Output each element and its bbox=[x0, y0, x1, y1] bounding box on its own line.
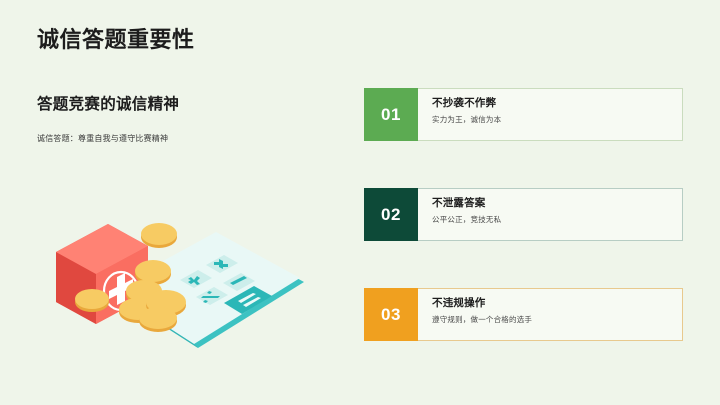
section-caption: 诚信答题：尊重自我与遵守比赛精神 bbox=[37, 133, 168, 144]
card-description: 公平公正，竞技无私 bbox=[432, 215, 682, 225]
card-number-badge: 02 bbox=[364, 188, 418, 241]
card-number-badge: 03 bbox=[364, 288, 418, 341]
card-body: 不泄露答案 公平公正，竞技无私 bbox=[418, 188, 683, 241]
card-title: 不泄露答案 bbox=[432, 197, 682, 210]
card-title: 不违规操作 bbox=[432, 297, 682, 310]
card-title: 不抄袭不作弊 bbox=[432, 97, 682, 110]
principle-card-2[interactable]: 02 不泄露答案 公平公正，竞技无私 bbox=[364, 188, 683, 241]
card-number-badge: 01 bbox=[364, 88, 418, 141]
card-description: 遵守规则，做一个合格的选手 bbox=[432, 315, 682, 325]
card-description: 实力为王，诚信为本 bbox=[432, 115, 682, 125]
principle-card-3[interactable]: 03 不违规操作 遵守规则，做一个合格的选手 bbox=[364, 288, 683, 341]
slide-canvas: 诚信答题重要性 答题竞赛的诚信精神 诚信答题：尊重自我与遵守比赛精神 bbox=[0, 0, 720, 405]
illustration bbox=[52, 208, 304, 360]
principle-card-1[interactable]: 01 不抄袭不作弊 实力为王，诚信为本 bbox=[364, 88, 683, 141]
card-body: 不违规操作 遵守规则，做一个合格的选手 bbox=[418, 288, 683, 341]
card-body: 不抄袭不作弊 实力为王，诚信为本 bbox=[418, 88, 683, 141]
section-subheading: 答题竞赛的诚信精神 bbox=[37, 92, 179, 114]
page-title: 诚信答题重要性 bbox=[37, 27, 195, 53]
